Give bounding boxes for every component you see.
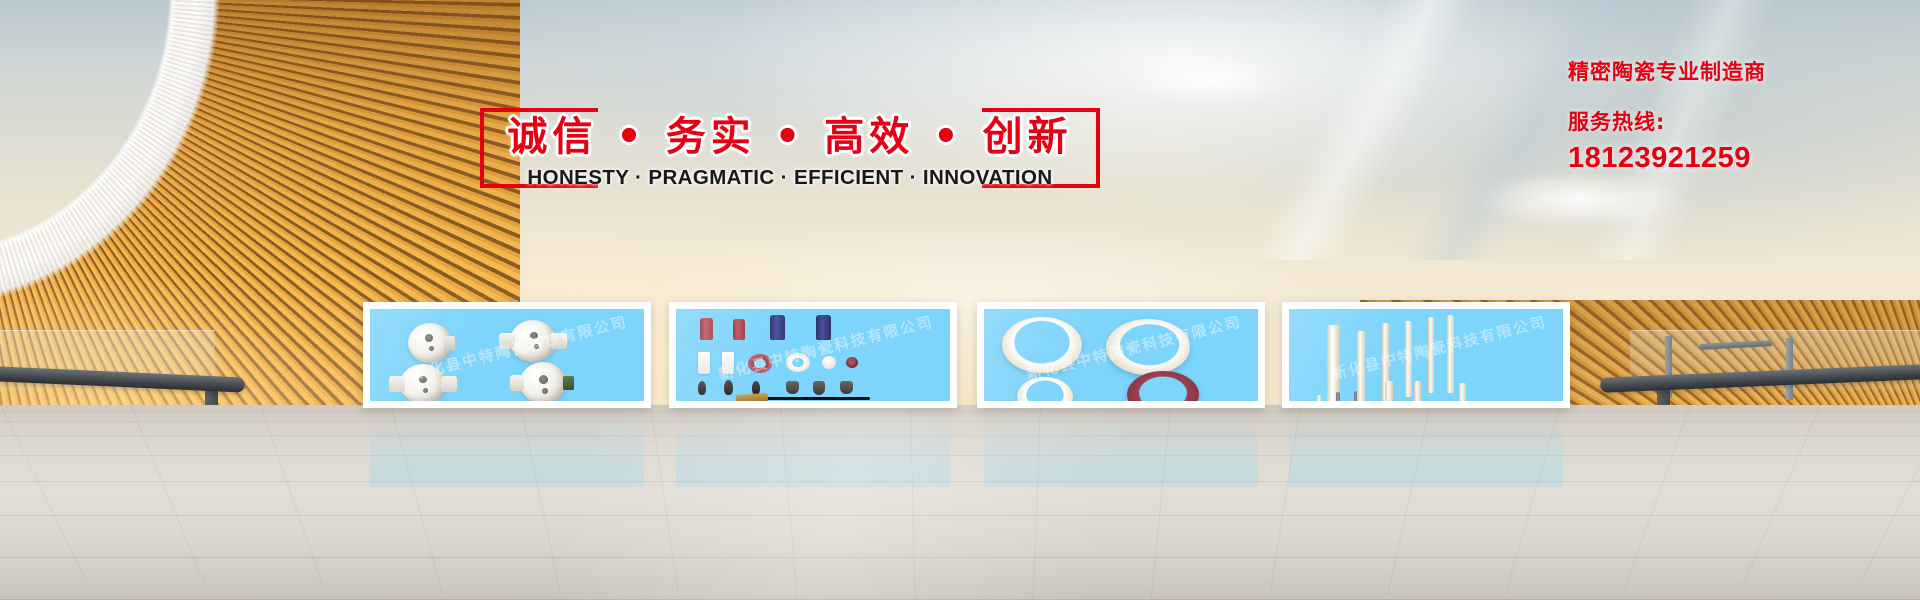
hotline-label: 服务热线:: [1568, 106, 1898, 136]
ceramic-rod: [1405, 321, 1412, 397]
ceramic-lamp-holder: [510, 320, 556, 362]
ceramic-rod: [1447, 315, 1454, 393]
metal-clip: [698, 381, 706, 395]
ceramic-pin: [1354, 391, 1357, 401]
ceramic-pin: [1317, 395, 1321, 401]
ceramic-tube: [700, 318, 713, 340]
ceramic-ring: [786, 353, 810, 372]
ceramic-rod-short: [1414, 381, 1421, 401]
company-tagline: 精密陶瓷专业制造商: [1568, 56, 1898, 86]
product-card-photo: 新化县中特陶瓷科技有限公司: [984, 309, 1258, 401]
contact-block: 精密陶瓷专业制造商 服务热线: 18123921259: [1568, 56, 1898, 175]
ceramic-ring-large: [1002, 317, 1082, 373]
product-card-photo: 新化县中特陶瓷科技有限公司: [1289, 309, 1563, 401]
ceramic-tube: [733, 319, 745, 340]
product-card-rods[interactable]: 新化县中特陶瓷科技有限公司: [1282, 302, 1570, 408]
wire-lead: [762, 397, 870, 400]
ceramic-tube: [816, 315, 831, 340]
ceramic-rod: [1327, 325, 1340, 401]
product-card-tubes-and-wires[interactable]: 新化县中特陶瓷科技有限公司: [669, 302, 957, 408]
slogan-chinese: 诚信 • 务实 • 高效 • 创新: [480, 104, 1100, 162]
ceramic-tube: [770, 315, 785, 340]
ceramic-ring-large: [1106, 319, 1190, 375]
metal-terminal: [786, 381, 799, 394]
ceramic-rod-short: [1385, 381, 1393, 401]
product-card-rings[interactable]: 新化县中特陶瓷科技有限公司: [977, 302, 1265, 408]
ceramic-rod: [1357, 331, 1365, 401]
ceramic-ring-maroon: [1127, 371, 1199, 401]
ceramic-lamp-holder: [400, 364, 446, 401]
metal-clip: [724, 380, 733, 395]
ceramic-lamp-holder: [520, 362, 566, 401]
ceramic-ring-small: [1017, 377, 1073, 401]
ceramic-lamp-holder: [408, 323, 452, 363]
ceramic-washer: [822, 356, 836, 369]
ceramic-washer: [846, 357, 858, 368]
ceramic-plate: [698, 352, 710, 374]
slogan-english: HONESTY · PRAGMATIC · EFFICIENT · INNOVA…: [480, 166, 1100, 190]
product-card-lamp-holders[interactable]: 新化县中特陶瓷科技有限公司: [363, 302, 651, 408]
product-card-photo: 新化县中特陶瓷科技有限公司: [370, 309, 644, 401]
ceramic-rod: [1428, 317, 1434, 393]
product-card-photo: 新化县中特陶瓷科技有限公司: [676, 309, 950, 401]
ceramic-pin: [1336, 392, 1340, 401]
promo-banner: 新化县中特陶瓷科技有限公司: [0, 0, 1920, 600]
slogan-block: 诚信 • 务实 • 高效 • 创新 HONESTY · PRAGMATIC · …: [480, 108, 1100, 203]
ceramic-plate: [722, 352, 734, 374]
ceramic-rod-short: [1459, 383, 1466, 401]
metal-terminal: [813, 381, 825, 395]
wire-connector: [736, 393, 769, 401]
metal-terminal: [840, 381, 853, 394]
ceramic-ring: [748, 354, 772, 373]
hotline-number[interactable]: 18123921259: [1568, 142, 1898, 175]
